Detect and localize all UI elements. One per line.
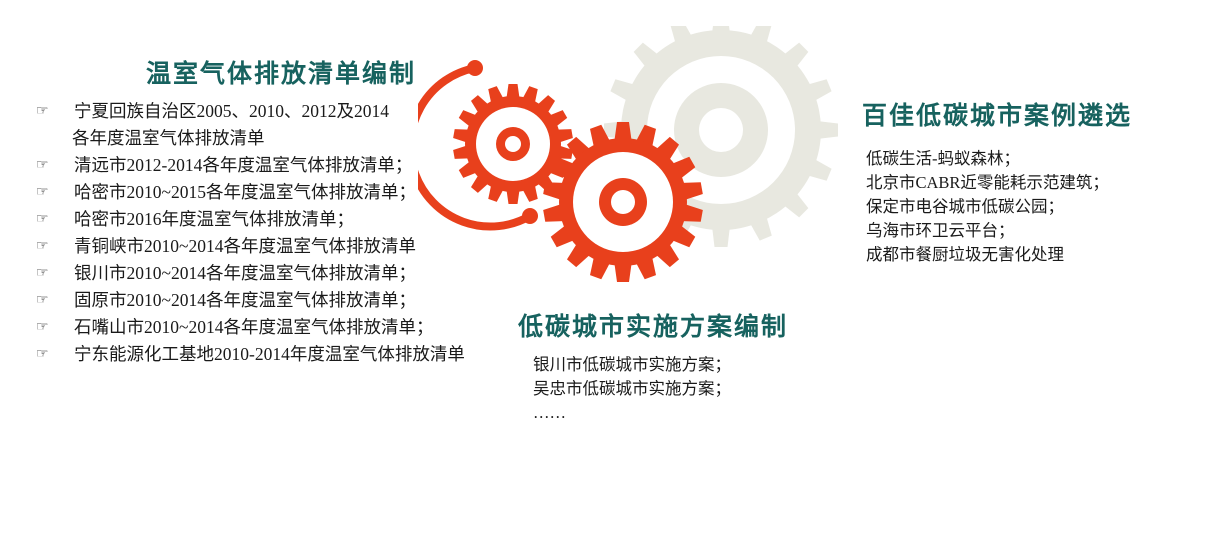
section-title-implementation-plans: 低碳城市实施方案编制 (518, 307, 788, 343)
list-item: 银川市低碳城市实施方案； (533, 353, 731, 377)
pointing-hand-icon: ☞ (34, 260, 74, 287)
ghg-inventory-list: ☞ 宁夏回族自治区2005、2010、2012及2014 各年度温室气体排放清单… (34, 98, 524, 368)
pointing-hand-icon: ☞ (34, 233, 74, 260)
list-item: 保定市电谷城市低碳公园； (866, 195, 1109, 219)
pointing-hand-icon: ☞ (34, 314, 74, 341)
list-item: 吴忠市低碳城市实施方案； (533, 377, 731, 401)
pointing-hand-icon: ☞ (34, 179, 74, 206)
list-item: ☞ 宁东能源化工基地2010-2014年度温室气体排放清单 (34, 341, 524, 368)
list-item: 低碳生活-蚂蚁森林； (866, 147, 1109, 171)
section-title-best-cases: 百佳低碳城市案例遴选 (862, 96, 1132, 132)
pointing-hand-icon: ☞ (34, 152, 74, 179)
list-item: ☞ 银川市2010~2014各年度温室气体排放清单； (34, 260, 524, 287)
list-item: ☞ 哈密市2010~2015各年度温室气体排放清单； (34, 179, 524, 206)
list-item: ☞ 哈密市2016年度温室气体排放清单； (34, 206, 524, 233)
list-item: 乌海市环卫云平台； (866, 219, 1109, 243)
pointing-hand-icon: ☞ (34, 341, 74, 368)
list-item: ☞ 石嘴山市2010~2014各年度温室气体排放清单； (34, 314, 524, 341)
slide-canvas: 温室气体排放清单编制 ☞ 宁夏回族自治区2005、2010、2012及2014 … (0, 0, 1213, 550)
section-title-ghg-inventory: 温室气体排放清单编制 (146, 54, 416, 90)
list-item-continuation: 各年度温室气体排放清单 (34, 125, 524, 152)
best-cases-list: 低碳生活-蚂蚁森林； 北京市CABR近零能耗示范建筑； 保定市电谷城市低碳公园；… (866, 147, 1109, 267)
list-item: ☞ 青铜峡市2010~2014各年度温室气体排放清单 (34, 233, 524, 260)
implementation-plans-list: 银川市低碳城市实施方案； 吴忠市低碳城市实施方案； …… (533, 353, 731, 425)
list-item: ☞ 清远市2012-2014各年度温室气体排放清单； (34, 152, 524, 179)
list-item: 成都市餐厨垃圾无害化处理 (866, 243, 1109, 267)
list-item: 北京市CABR近零能耗示范建筑； (866, 171, 1109, 195)
gear-gray-large (604, 26, 838, 247)
list-item: ☞ 宁夏回族自治区2005、2010、2012及2014 (34, 98, 524, 125)
list-item: ☞ 固原市2010~2014各年度温室气体排放清单； (34, 287, 524, 314)
list-item: …… (533, 401, 731, 425)
gear-red-large (543, 122, 704, 282)
pointing-hand-icon: ☞ (34, 287, 74, 314)
pointing-hand-icon: ☞ (34, 98, 74, 125)
pointing-hand-icon: ☞ (34, 206, 74, 233)
